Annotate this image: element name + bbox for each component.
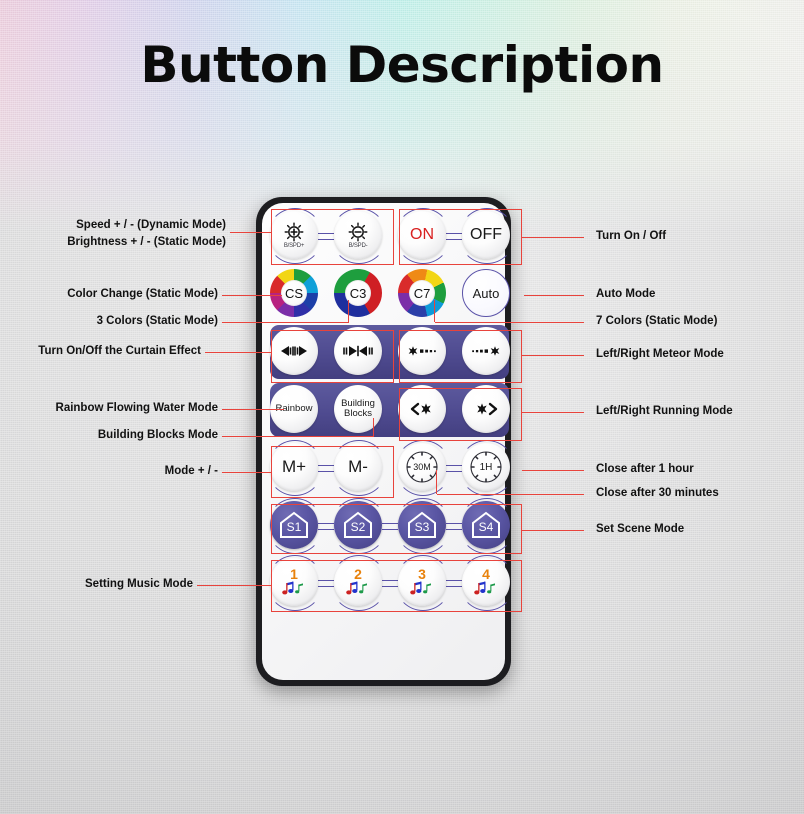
highlight-curtain (271, 330, 394, 383)
highlight-music (271, 560, 522, 612)
leader-meteor (522, 355, 584, 356)
callout-building-blocks: Building Blocks Mode (0, 429, 218, 441)
button-timer-1h[interactable]: 1H (462, 443, 510, 491)
callout-3colors: 3 Colors (Static Mode) (0, 315, 218, 327)
leader-running (522, 412, 584, 413)
button-label: CS (281, 280, 307, 306)
callout-7colors: 7 Colors (Static Mode) (596, 315, 717, 327)
callout-set-scene: Set Scene Mode (596, 523, 684, 535)
remote-control-body: B/SPD+ B/SPD- ON (256, 197, 511, 686)
button-timer-30m[interactable]: 30M (398, 443, 446, 491)
leader-30m-stem (436, 470, 437, 494)
leader-7colors (435, 322, 584, 323)
callout-close-30m: Close after 30 minutes (596, 487, 719, 499)
highlight-power (399, 209, 522, 265)
row-color-modes: CS C3 C7 Auto (262, 269, 517, 327)
callout-mode-plus-minus: Mode + / - (0, 465, 218, 477)
highlight-mode (271, 446, 394, 498)
leader-rainbow (222, 409, 284, 410)
page-title: Button Description (0, 36, 804, 94)
callout-running: Left/Right Running Mode (596, 405, 733, 417)
highlight-scene (271, 504, 522, 554)
callout-turn-on-off: Turn On / Off (596, 230, 666, 242)
callout-rainbow-water: Rainbow Flowing Water Mode (0, 402, 218, 414)
leader-3colors-stem (348, 300, 349, 322)
callout-color-change: Color Change (Static Mode) (0, 288, 218, 300)
leader-3colors (222, 322, 349, 323)
callout-curtain: Turn On/Off the Curtain Effect (0, 345, 201, 357)
callout-setting-music: Setting Music Mode (0, 578, 193, 590)
callout-speed-brightness-line1: Speed + / - (Dynamic Mode) (0, 219, 226, 231)
button-building-blocks[interactable]: Building Blocks (334, 385, 382, 433)
button-auto[interactable]: Auto (462, 269, 510, 317)
button-c3[interactable]: C3 (334, 269, 382, 317)
leader-7colors-stem (434, 300, 435, 322)
button-c7[interactable]: C7 (398, 269, 446, 317)
button-label-line2: Blocks (344, 409, 372, 419)
button-label: 30M (413, 462, 431, 472)
leader-auto (524, 295, 584, 296)
button-cs[interactable]: CS (270, 269, 318, 317)
leader-set-scene (522, 530, 584, 531)
button-label: 1H (480, 462, 493, 473)
leader-blocks (222, 436, 374, 437)
button-label: Auto (473, 286, 500, 301)
leader-curtain (205, 352, 271, 353)
callout-speed-brightness-line2: Brightness + / - (Static Mode) (0, 236, 226, 248)
highlight-speed-brightness (271, 209, 394, 265)
callout-auto-mode: Auto Mode (596, 288, 655, 300)
leader-music (197, 585, 271, 586)
highlight-running (399, 388, 522, 441)
leader-30m (437, 494, 584, 495)
highlight-meteor (399, 330, 522, 383)
leader-mode (222, 472, 271, 473)
leader-turn-on-off (522, 237, 584, 238)
button-label: C7 (409, 280, 435, 306)
leader-speed-brightness (230, 232, 271, 233)
callout-close-1h: Close after 1 hour (596, 463, 694, 475)
leader-blocks-stem (373, 418, 374, 436)
leader-1h (522, 470, 584, 471)
callout-meteor: Left/Right Meteor Mode (596, 348, 724, 360)
leader-color-change (222, 295, 282, 296)
